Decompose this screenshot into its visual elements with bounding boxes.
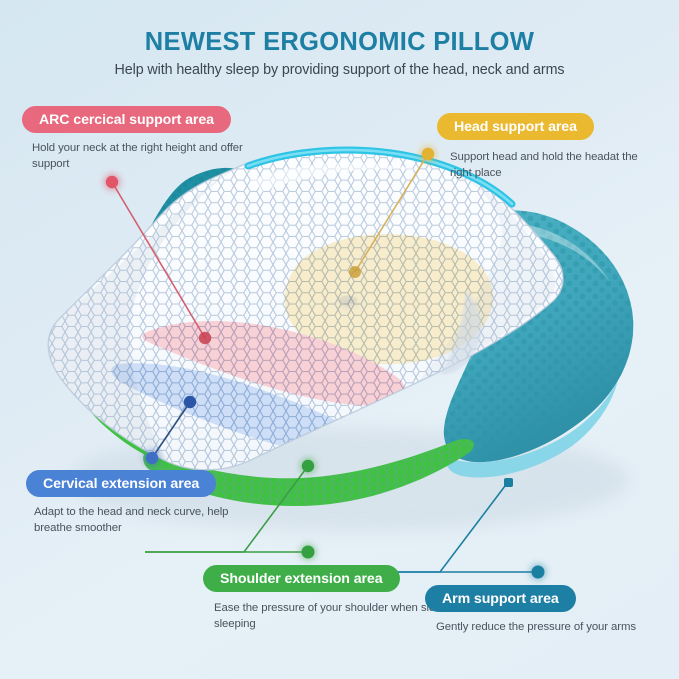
callout-label-head[interactable]: Head support area (437, 113, 594, 140)
callout-label-cervical[interactable]: Cervical extension area (26, 470, 216, 497)
callout-description-shoulder: Ease the pressure of your shoulder when … (214, 601, 444, 632)
callout-label-arc[interactable]: ARC cercical support area (22, 106, 231, 133)
callout-label-shoulder[interactable]: Shoulder extension area (203, 565, 400, 592)
callout-description-cervical: Adapt to the head and neck curve, help b… (34, 505, 264, 536)
callout-label-arm[interactable]: Arm support area (425, 585, 576, 612)
callout-description-arc: Hold your neck at the right height and o… (32, 141, 252, 172)
callout-description-head: Support head and hold the headat the rig… (450, 150, 640, 181)
page-title: NEWEST ERGONOMIC PILLOW (0, 28, 679, 57)
callout-description-arm: Gently reduce the pressure of your arms (436, 620, 656, 636)
infographic-canvas: NEWEST ERGONOMIC PILLOW Help with health… (0, 0, 679, 679)
page-subtitle: Help with healthy sleep by providing sup… (0, 62, 679, 78)
